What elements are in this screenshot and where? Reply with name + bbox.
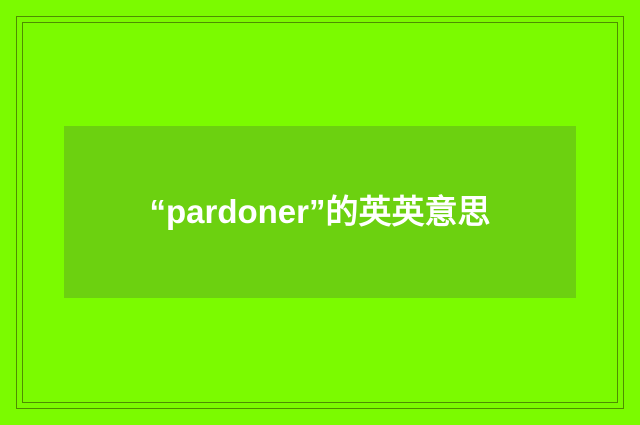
title-plate: “pardoner”的英英意思 [64, 126, 576, 298]
banner-title: “pardoner”的英英意思 [130, 182, 510, 241]
banner-canvas: “pardoner”的英英意思 [0, 0, 640, 425]
